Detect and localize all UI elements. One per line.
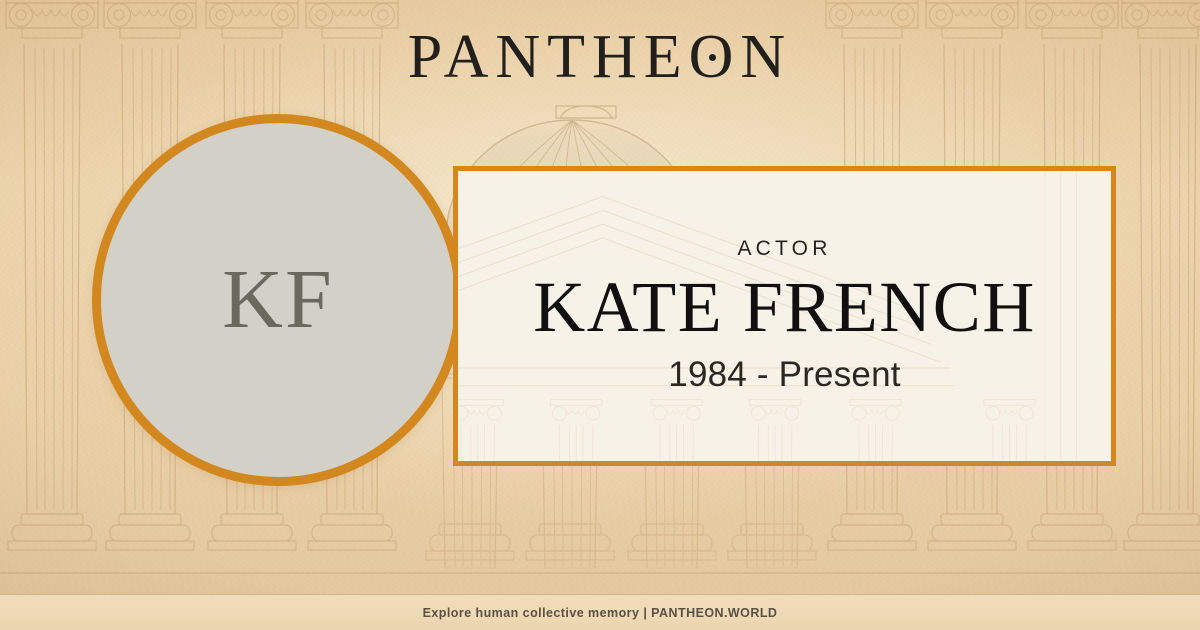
footer-bar: Explore human collective memory | PANTHE… <box>0 594 1200 630</box>
lifespan-label: 1984 - Present <box>458 355 1111 395</box>
dot-in-o-icon <box>709 54 716 61</box>
person-info-card: ACTOR KATE FRENCH 1984 - Present <box>453 166 1116 466</box>
footer-text: Explore human collective memory | PANTHE… <box>423 606 778 620</box>
brand-text-part-1: PANTHE <box>408 23 689 91</box>
pantheon-social-card: PANTHEON KF <box>0 0 1200 630</box>
brand-text-part-2: N <box>740 23 792 91</box>
avatar-initials: KF <box>222 258 333 342</box>
occupation-label: ACTOR <box>458 237 1111 261</box>
avatar: KF <box>92 114 464 486</box>
brand-oculus-o: O <box>689 26 741 88</box>
person-name: KATE FRENCH <box>458 269 1111 347</box>
brand-wordmark: PANTHEON <box>0 26 1200 88</box>
